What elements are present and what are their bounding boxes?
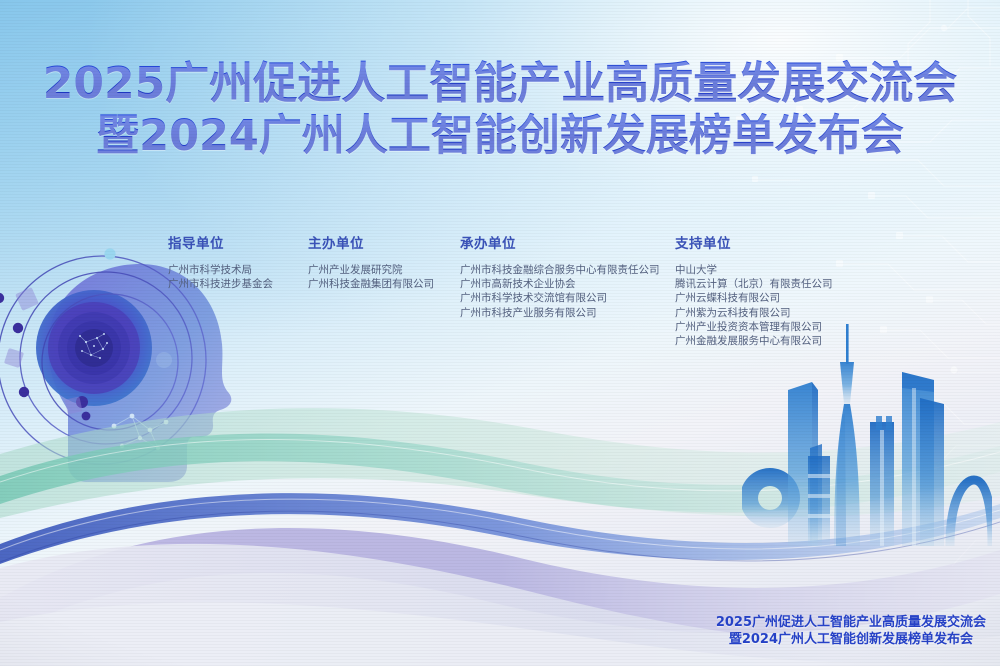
org-item: 广州云蝶科技有限公司 bbox=[675, 291, 865, 305]
watermark-title: 2025广州促进人工智能产业高质量发展交流会 暨2024广州人工智能创新发展榜单… bbox=[716, 614, 986, 648]
org-item: 广州科技金融集团有限公司 bbox=[308, 277, 460, 291]
org-item: 广州金融发展服务中心有限公司 bbox=[675, 334, 865, 348]
org-column-support: 支持单位 中山大学 腾讯云计算（北京）有限责任公司 广州云蝶科技有限公司 广州紫… bbox=[675, 232, 865, 348]
poster-stage: 2025广州促进人工智能产业高质量发展交流会 暨2024广州人工智能创新发展榜单… bbox=[0, 0, 1000, 666]
org-item: 广州紫为云科技有限公司 bbox=[675, 306, 865, 320]
org-item: 广州市科学技术局 bbox=[168, 263, 308, 277]
org-item: 广州产业投资资本管理有限公司 bbox=[675, 320, 865, 334]
org-item: 中山大学 bbox=[675, 263, 865, 277]
org-item: 广州市科技进步基金会 bbox=[168, 277, 308, 291]
org-item: 广州市科技产业服务有限公司 bbox=[460, 306, 675, 320]
organizer-columns: 指导单位 广州市科学技术局 广州市科技进步基金会 主办单位 广州产业发展研究院 … bbox=[168, 232, 868, 348]
title-line-2: 暨2024广州人工智能创新发展榜单发布会 bbox=[0, 110, 1000, 162]
org-item: 腾讯云计算（北京）有限责任公司 bbox=[675, 277, 865, 291]
org-item: 广州市高新技术企业协会 bbox=[460, 277, 675, 291]
page-title: 2025广州促进人工智能产业高质量发展交流会 暨2024广州人工智能创新发展榜单… bbox=[0, 58, 1000, 162]
watermark-line-1: 2025广州促进人工智能产业高质量发展交流会 bbox=[716, 614, 986, 631]
org-item: 广州产业发展研究院 bbox=[308, 263, 460, 277]
title-line-1: 2025广州促进人工智能产业高质量发展交流会 bbox=[0, 58, 1000, 110]
org-item: 广州市科技金融综合服务中心有限责任公司 bbox=[460, 263, 675, 277]
org-heading: 指导单位 bbox=[168, 232, 308, 252]
org-column-guidance: 指导单位 广州市科学技术局 广州市科技进步基金会 bbox=[168, 232, 308, 291]
guangzhou-skyline-graphic bbox=[742, 318, 992, 548]
org-heading: 承办单位 bbox=[460, 232, 675, 252]
org-column-organizer: 承办单位 广州市科技金融综合服务中心有限责任公司 广州市高新技术企业协会 广州市… bbox=[460, 232, 675, 320]
org-heading: 主办单位 bbox=[308, 232, 460, 252]
watermark-line-2: 暨2024广州人工智能创新发展榜单发布会 bbox=[716, 631, 986, 648]
org-column-host: 主办单位 广州产业发展研究院 广州科技金融集团有限公司 bbox=[308, 232, 460, 291]
org-item: 广州市科学技术交流馆有限公司 bbox=[460, 291, 675, 305]
org-heading: 支持单位 bbox=[675, 232, 865, 252]
